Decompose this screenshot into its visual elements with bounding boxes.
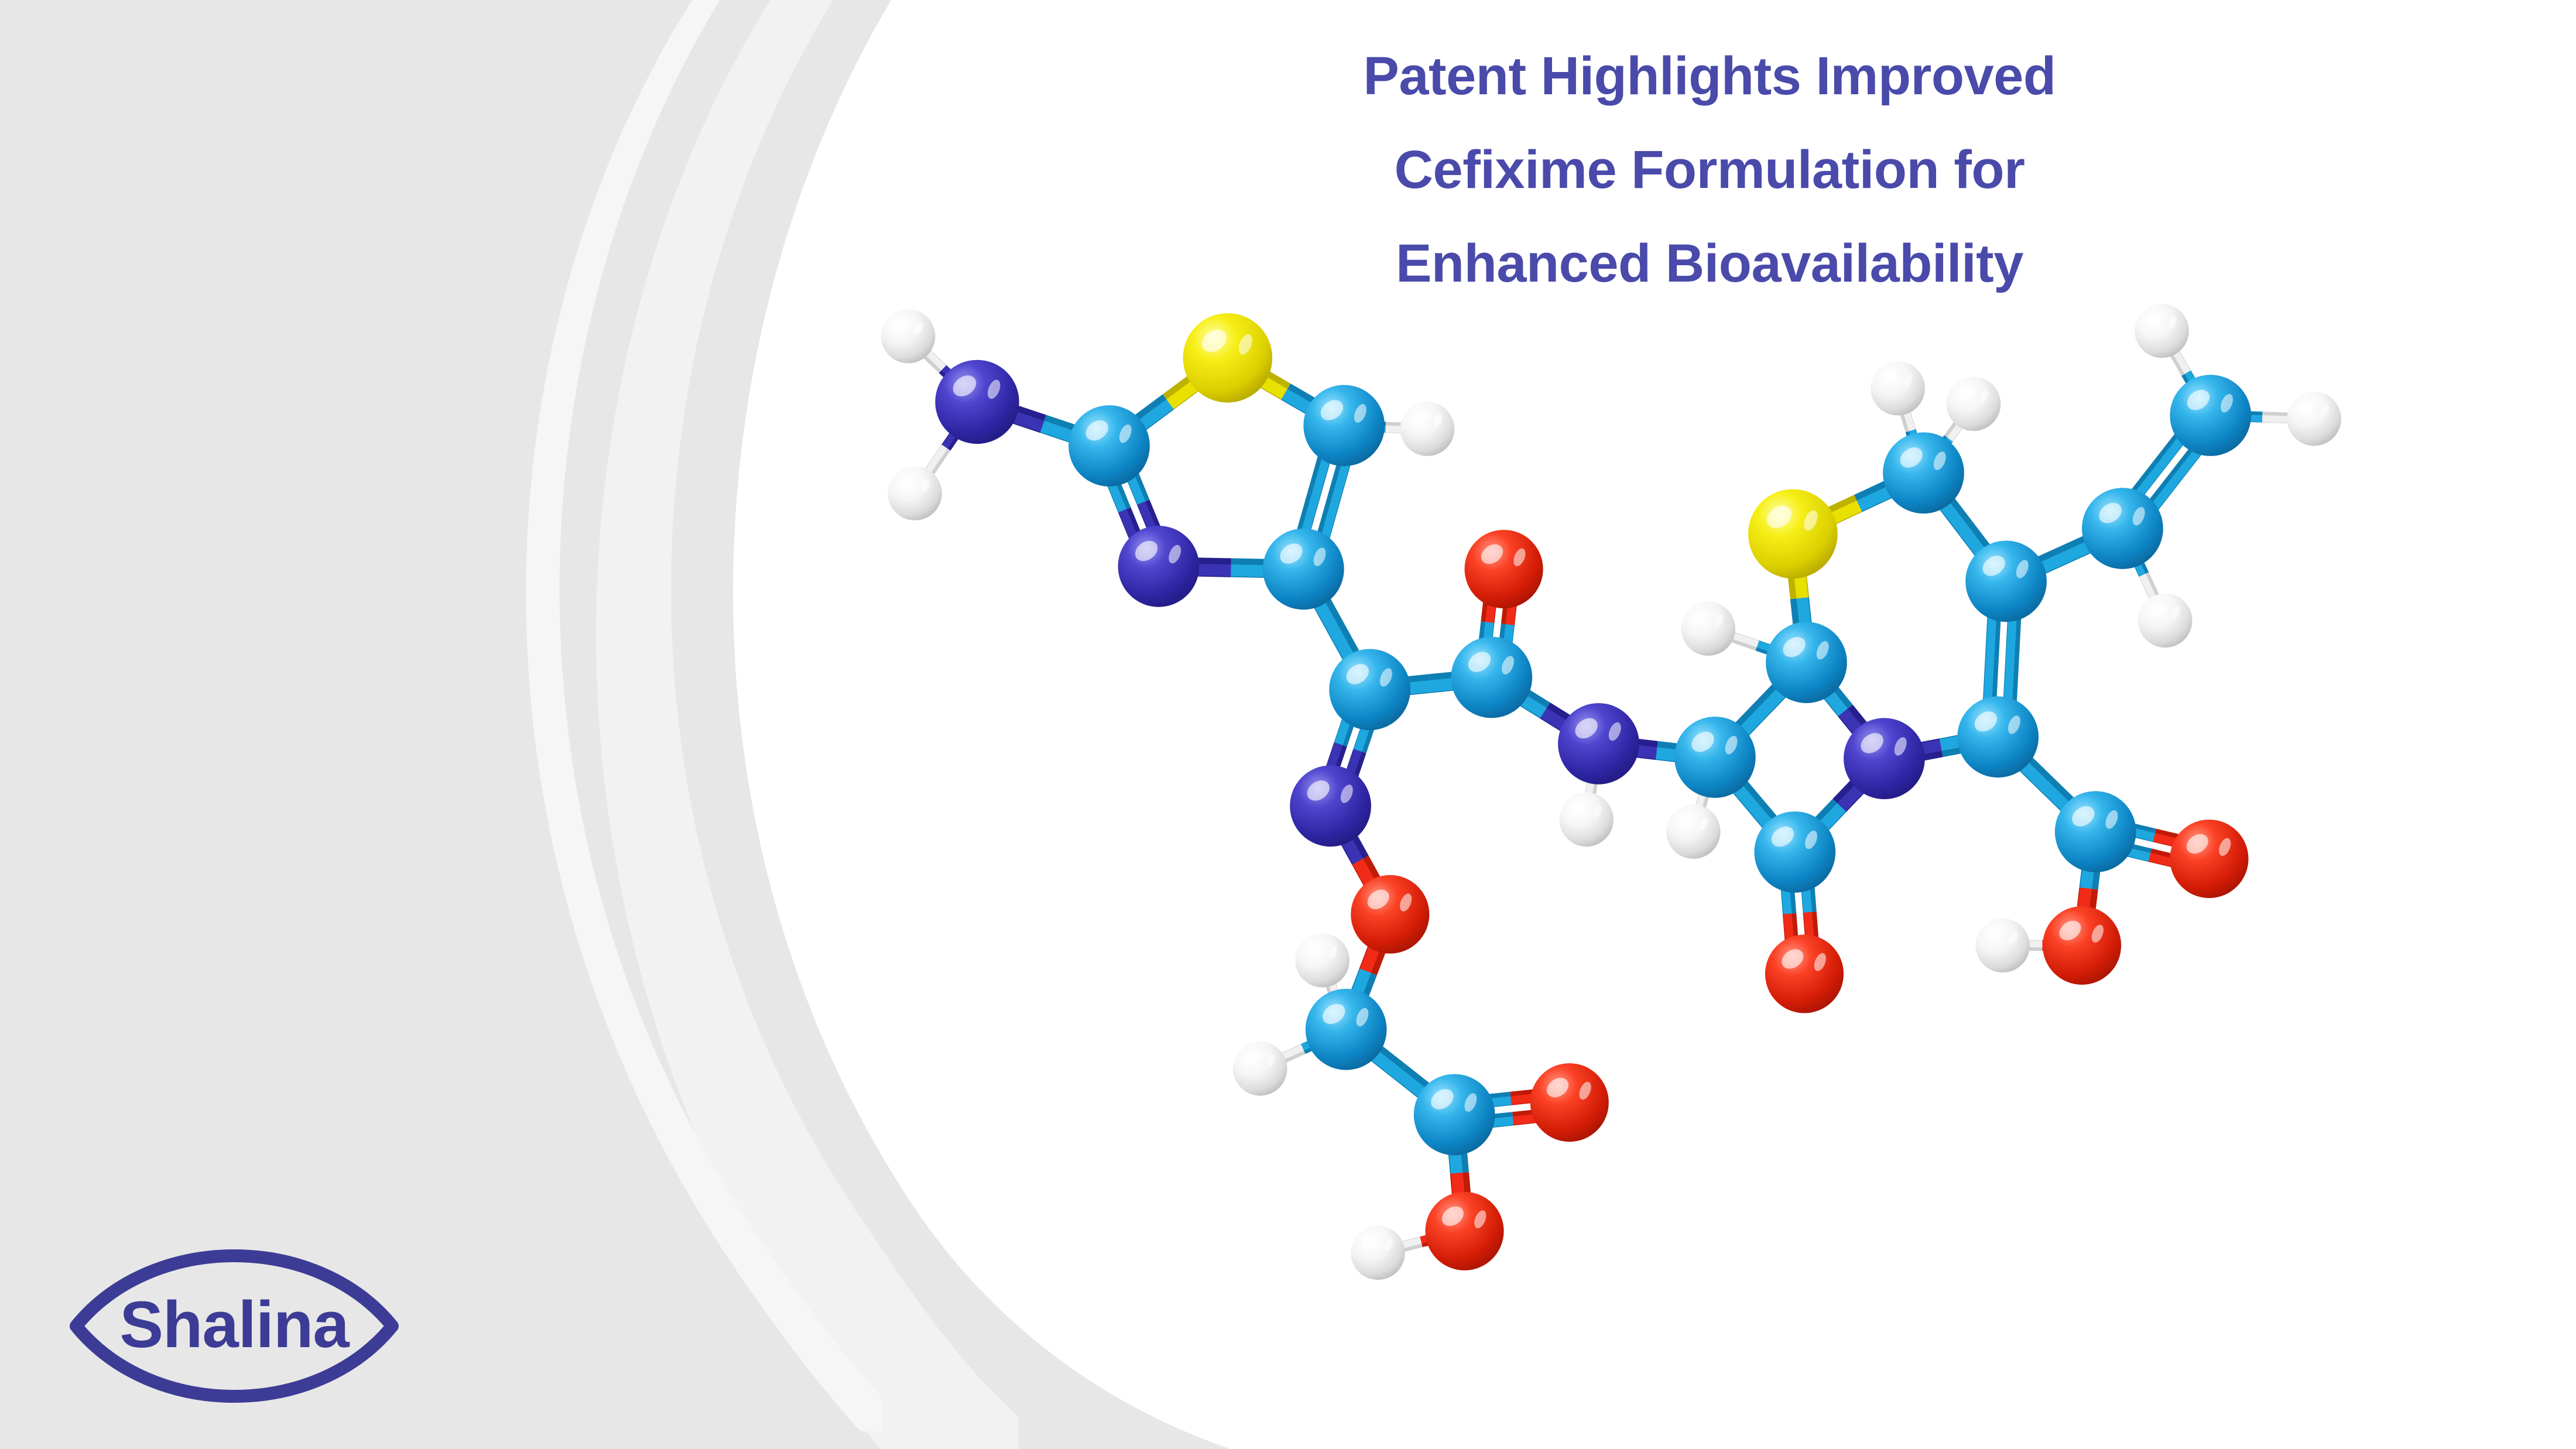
atom-hydrogen <box>1400 402 1455 456</box>
atom-oxygen <box>1530 1063 1609 1142</box>
atom-carbon <box>1883 432 1964 513</box>
atom-hydrogen <box>2135 304 2189 358</box>
atom-hydrogen <box>2138 594 2193 648</box>
slide-canvas: Patent Highlights Improved Cefixime Form… <box>0 0 2576 1449</box>
atom-oxygen <box>2170 820 2248 898</box>
atom-carbon <box>1263 529 1344 610</box>
atom-carbon <box>1414 1074 1495 1156</box>
atom-oxygen <box>1426 1192 1504 1270</box>
logo-wordmark: Shalina <box>64 1235 404 1417</box>
atom-hydrogen <box>2287 392 2341 446</box>
atom-layer <box>881 304 2341 1280</box>
atom-hydrogen <box>1666 804 1721 859</box>
atom-nitrogen <box>935 360 1019 444</box>
atom-hydrogen <box>1871 361 1925 416</box>
atom-hydrogen <box>881 309 936 364</box>
atom-carbon <box>1451 637 1532 718</box>
atom-hydrogen <box>1559 793 1614 847</box>
atom-hydrogen <box>1681 602 1736 656</box>
atom-oxygen <box>1765 934 1844 1013</box>
atom-hydrogen <box>888 466 942 520</box>
atom-hydrogen <box>1976 919 2030 973</box>
cefixime-molecule-model <box>673 222 2459 1306</box>
atom-nitrogen <box>1290 765 1371 847</box>
atom-oxygen <box>1351 875 1429 954</box>
atom-carbon <box>1303 385 1385 467</box>
atom-oxygen <box>1465 530 1543 608</box>
atom-carbon <box>1754 811 1835 893</box>
atom-nitrogen <box>1844 718 1925 799</box>
atom-sulfur <box>1748 489 1838 579</box>
atom-carbon <box>2055 791 2136 872</box>
brand-logo[interactable]: Shalina <box>64 1235 404 1417</box>
atom-carbon <box>1965 540 2047 622</box>
atom-nitrogen <box>1118 526 1200 607</box>
atom-hydrogen <box>1351 1226 1405 1280</box>
atom-hydrogen <box>1233 1042 1287 1096</box>
atom-oxygen <box>2043 906 2121 985</box>
atom-carbon <box>2170 375 2251 456</box>
atom-carbon <box>1329 649 1410 730</box>
atom-carbon <box>1674 717 1756 798</box>
atom-hydrogen <box>1947 377 2001 431</box>
atom-carbon <box>1306 989 1387 1070</box>
atom-carbon <box>1068 405 1150 487</box>
atom-carbon <box>2082 488 2163 569</box>
atom-nitrogen <box>1558 703 1639 785</box>
atom-carbon <box>1766 622 1847 703</box>
atom-carbon <box>1957 696 2039 777</box>
atom-sulfur <box>1183 313 1273 403</box>
atom-hydrogen <box>1296 933 1350 988</box>
